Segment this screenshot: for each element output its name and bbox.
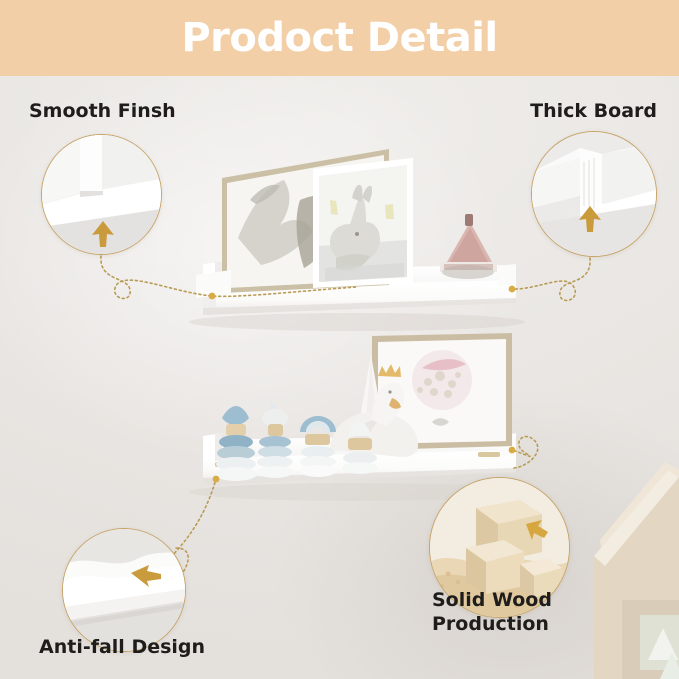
house-ornament — [440, 214, 497, 279]
white-block-decor — [196, 270, 231, 298]
callout-smooth-finish — [41, 134, 162, 255]
callout-label-solid-wood-production: Solid Wood Production — [432, 589, 552, 637]
callout-label-anti-fall-design: Anti-fall Design — [39, 636, 205, 660]
callout-label-thick-board: Thick Board — [530, 100, 657, 124]
callout-label-smooth-finish: Smooth Finsh — [29, 100, 176, 124]
framed-art-rabbit — [313, 158, 413, 288]
callout-anti-fall-design — [62, 528, 186, 652]
callout-thick-board — [531, 131, 657, 257]
house-shelf-decor — [594, 462, 679, 679]
product-detail-infographic: Prodoct Detail — [0, 0, 679, 679]
